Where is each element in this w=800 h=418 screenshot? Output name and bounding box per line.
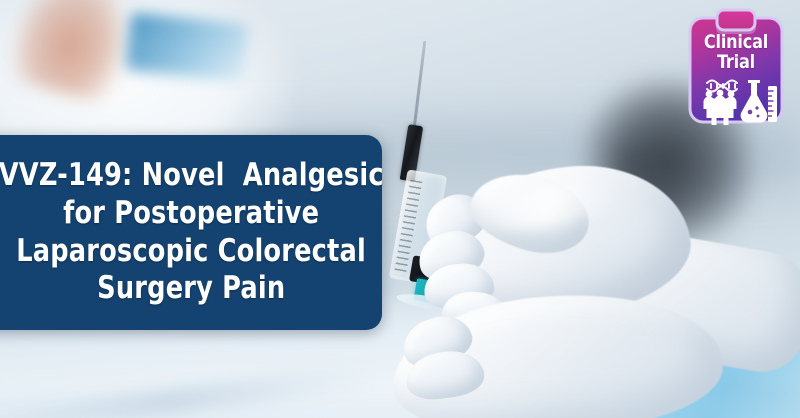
title-line-4: Surgery Pain xyxy=(97,270,285,308)
title-line-1: VVZ-149: Novel Analgesic xyxy=(0,157,383,195)
title-line-3: Laparoscopic Colorectal xyxy=(16,233,366,271)
clinical-trial-banner: VVZ-149: Novel Analgesic for Postoperati… xyxy=(0,0,800,418)
photo-blue-badge xyxy=(125,12,248,82)
title-card: VVZ-149: Novel Analgesic for Postoperati… xyxy=(0,135,382,330)
title-line-2: for Postoperative xyxy=(63,195,319,233)
badge-clipboard-icon xyxy=(684,8,788,128)
clinical-trial-badge: Clinical Trial xyxy=(684,8,788,128)
